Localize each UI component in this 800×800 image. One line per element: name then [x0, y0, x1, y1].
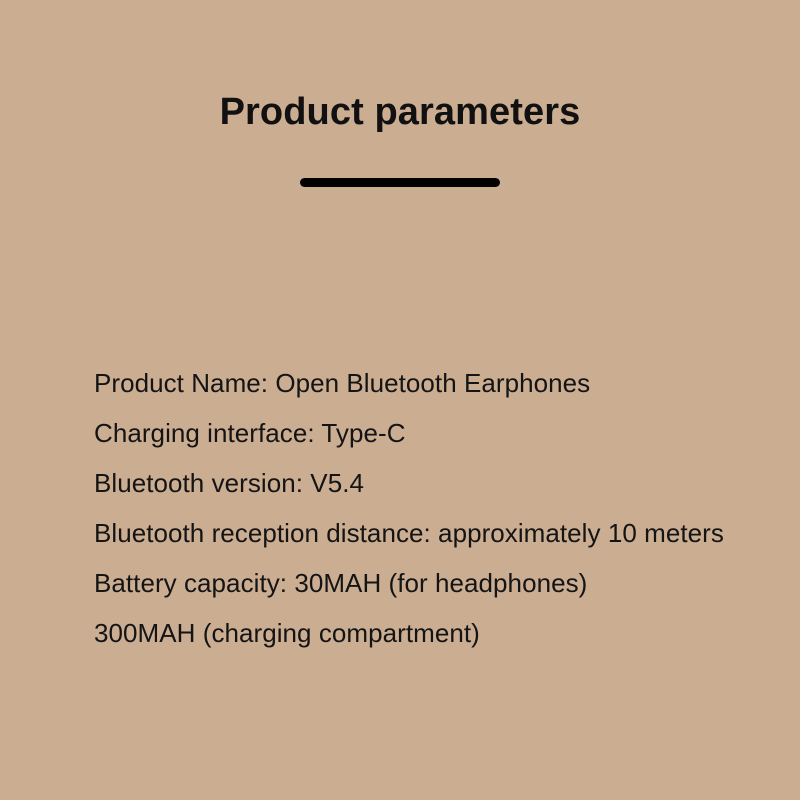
- page-title: Product parameters: [0, 88, 800, 136]
- spec-item-reception-distance: Bluetooth reception distance: approximat…: [94, 508, 774, 558]
- spec-item-battery-capacity-case: 300MAH (charging compartment): [94, 608, 774, 658]
- title-divider: [300, 178, 500, 187]
- page-header: Product parameters: [0, 88, 800, 187]
- spec-item-bluetooth-version: Bluetooth version: V5.4: [94, 458, 774, 508]
- product-spec-list: Product Name: Open Bluetooth Earphones C…: [94, 358, 774, 658]
- spec-item-product-name: Product Name: Open Bluetooth Earphones: [94, 358, 774, 408]
- product-parameters-page: Product parameters Product Name: Open Bl…: [0, 0, 800, 800]
- spec-item-battery-capacity-earbuds: Battery capacity: 30MAH (for headphones): [94, 558, 774, 608]
- title-divider-container: [0, 178, 800, 187]
- spec-item-charging-interface: Charging interface: Type-C: [94, 408, 774, 458]
